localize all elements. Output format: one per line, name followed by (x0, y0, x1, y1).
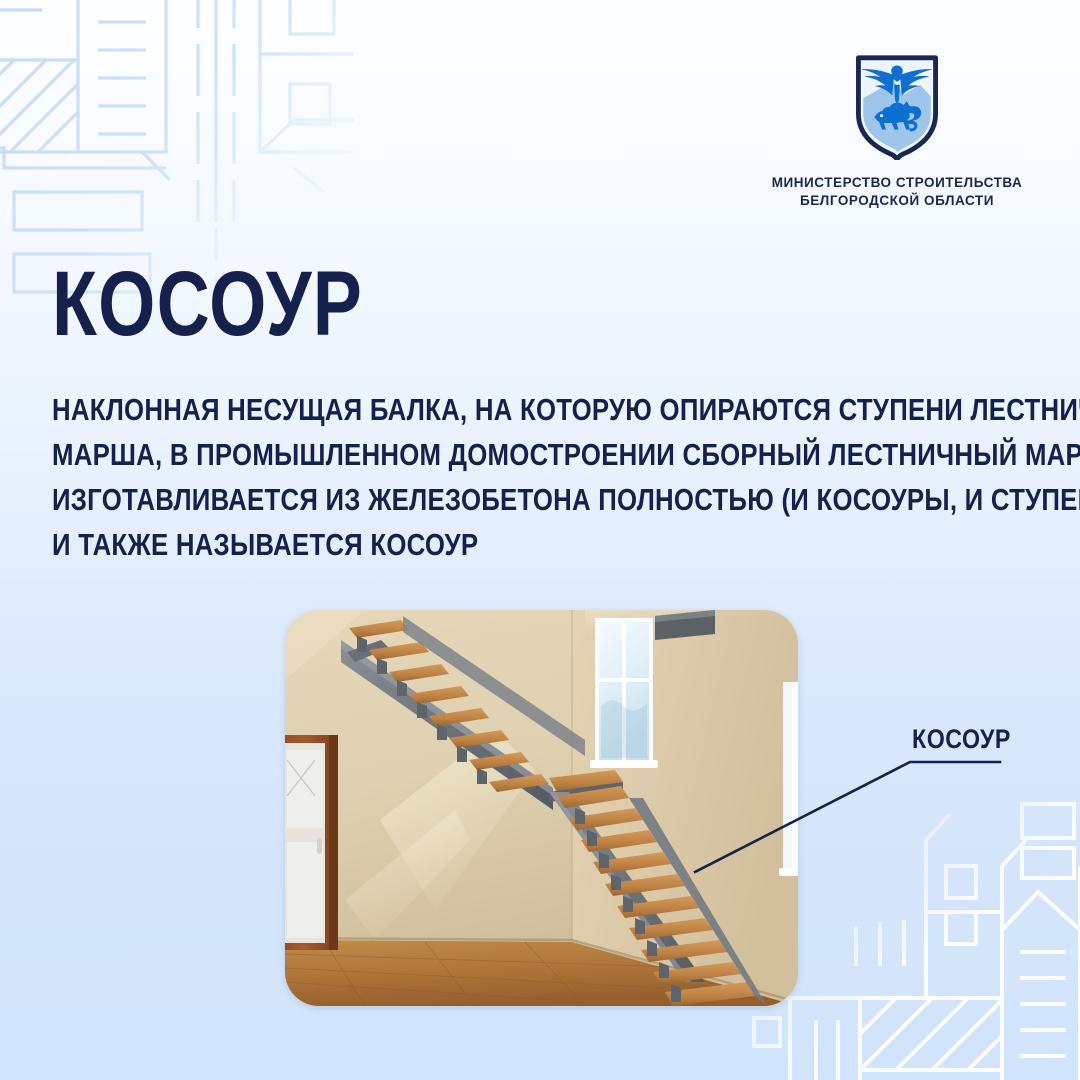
poster-canvas: МИНИСТЕРСТВО СТРОИТЕЛЬСТВА БЕЛГОРОДСКОЙ … (0, 0, 1080, 1080)
definition-text: НАКЛОННАЯ НЕСУЩАЯ БАЛКА, НА КОТОРУЮ ОПИР… (52, 388, 1062, 568)
ministry-name-line-2: БЕЛГОРОДСКОЙ ОБЛАСТИ (772, 192, 1023, 210)
decorative-lineart-bottom-right (750, 780, 1080, 1080)
staircase-photo (285, 610, 798, 1006)
page-title: КОСОУР (52, 262, 363, 348)
ministry-name-line-1: МИНИСТЕРСТВО СТРОИТЕЛЬСТВА (772, 174, 1023, 192)
definition-line: НАКЛОННАЯ НЕСУЩАЯ БАЛКА, НА КОТОРУЮ ОПИР… (52, 388, 905, 433)
ministry-logo-block: МИНИСТЕРСТВО СТРОИТЕЛЬСТВА БЕЛГОРОДСКОЙ … (772, 52, 1022, 211)
callout-label: КОСОУР (912, 724, 1011, 755)
ministry-name: МИНИСТЕРСТВО СТРОИТЕЛЬСТВА БЕЛГОРОДСКОЙ … (772, 174, 1023, 211)
staircase-illustration (285, 610, 798, 1006)
definition-line: И ТАКЖЕ НАЗЫВАЕТСЯ КОСОУР (52, 523, 905, 568)
definition-line: МАРША, В ПРОМЫШЛЕННОМ ДОМОСТРОЕНИИ СБОРН… (52, 433, 905, 478)
definition-line: ИЗГОТАВЛИВАЕТСЯ ИЗ ЖЕЛЕЗОБЕТОНА ПОЛНОСТЬ… (52, 478, 905, 523)
belgorod-coat-of-arms-icon (847, 52, 947, 160)
